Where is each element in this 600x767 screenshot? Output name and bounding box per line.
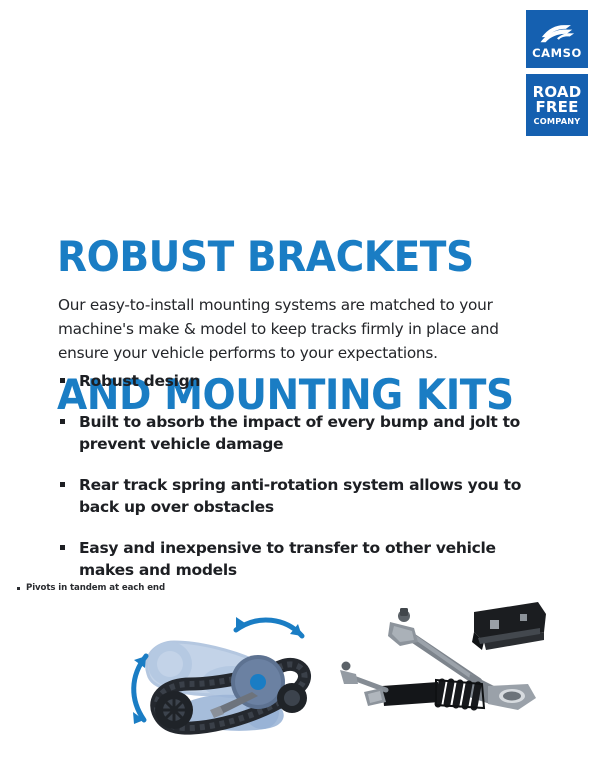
badge-line-free: FREE: [535, 100, 578, 116]
feature-list: Robust design Built to absorb the impact…: [58, 370, 528, 582]
mounting-bracket: [472, 602, 546, 650]
footnote-pivots: Pivots in tandem at each end: [17, 583, 165, 593]
illustration-row: [0, 598, 600, 748]
list-item: Built to absorb the impact of every bump…: [58, 411, 528, 456]
intro-paragraph: Our easy-to-install mounting systems are…: [58, 293, 528, 365]
list-item: Rear track spring anti-rotation system a…: [58, 474, 528, 519]
camso-logo: CAMSO: [526, 10, 588, 68]
list-item: Robust design: [58, 370, 528, 393]
pivot-rotation-arrow-top: [236, 617, 302, 636]
product-sheet-page: CAMSO ROAD FREE COMPANY ROBUST BRACKETS …: [0, 0, 600, 767]
rear-idler-wheel: [277, 683, 307, 713]
pivot-rotation-arrow-left: [133, 656, 146, 724]
mounting-hardware-photo: [332, 598, 550, 733]
camso-mountain-mark: [538, 22, 576, 46]
camso-wordmark: CAMSO: [532, 48, 582, 60]
page-title-line-1: ROBUST BRACKETS: [57, 234, 514, 280]
front-idler-wheel: [155, 691, 193, 729]
list-item: Easy and inexpensive to transfer to othe…: [58, 537, 528, 582]
road-free-company-badge: ROAD FREE COMPANY: [526, 74, 588, 136]
badge-line-company: COMPANY: [534, 117, 581, 126]
rubber-track-system-diagram: [112, 600, 324, 740]
brand-logo-stack: CAMSO ROAD FREE COMPANY: [526, 10, 588, 136]
